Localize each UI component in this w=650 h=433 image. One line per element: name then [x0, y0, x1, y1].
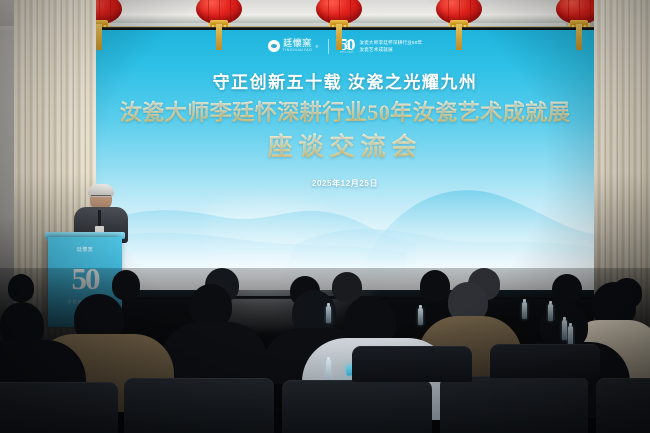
audience-head-back-1 [8, 274, 34, 302]
water-bottle-1 [326, 306, 331, 323]
anniversary-lockup: 50 1975-2025 汝瓷大师李廷怀深耕行业50年 汝瓷艺术成就展 [339, 37, 422, 55]
seat-back-5 [596, 378, 650, 433]
logo-divider [328, 39, 329, 54]
seat-back-2 [124, 378, 274, 433]
podium-brand-label: 廷懷窯 [48, 246, 122, 253]
audience-area [0, 268, 650, 433]
teacup-circle-icon [268, 40, 280, 52]
brand-name-en: TINGHUAIYAO [283, 49, 313, 52]
brand-text: 廷懷窯 TINGHUAIYAO [283, 39, 313, 52]
screenshot-root: 廷懷窯 TINGHUAIYAO ® 50 1975-2025 汝瓷大师李廷怀深耕… [0, 0, 650, 433]
anniversary-caption: 汝瓷大师李廷怀深耕行业50年 汝瓷艺术成就展 [359, 40, 422, 52]
water-bottle-4 [548, 304, 553, 321]
seat-back-7 [490, 344, 600, 378]
red-lantern-4 [436, 0, 482, 38]
banner-date: 2025年12月25日 [96, 178, 594, 189]
anniversary-years: 1975-2025 [339, 52, 354, 54]
audience-head-back-8 [552, 274, 582, 304]
water-bottle-5 [562, 320, 567, 340]
banner-event-type: 座谈交流会 [96, 127, 594, 163]
brand-name-cn: 廷懷窯 [283, 39, 312, 48]
seat-back-3 [282, 380, 432, 433]
red-lantern-3 [316, 0, 362, 38]
anniversary-caption-line1: 汝瓷大师李廷怀深耕行业50年 [359, 40, 422, 46]
banner-main-title: 汝瓷大师李廷怀深耕行业50年汝瓷艺术成就展 [96, 95, 594, 127]
red-lantern-2 [196, 0, 242, 38]
seat-back-1 [0, 382, 118, 433]
seat-back-4 [440, 376, 588, 433]
audience-head-back-6 [420, 270, 450, 302]
anniversary-caption-line2: 汝瓷艺术成就展 [359, 47, 422, 53]
audience-head-back-2 [112, 270, 140, 300]
trademark-mark: ® [315, 44, 318, 49]
banner-subtitle: 守正创新五十载 汝瓷之光耀九州 [96, 68, 594, 93]
water-bottle-3 [522, 302, 527, 319]
seat-back-6 [352, 346, 472, 382]
audience-head-back-5 [332, 272, 362, 302]
glasses-icon [91, 195, 111, 201]
water-bottle-2 [418, 308, 423, 325]
lanyard [98, 210, 101, 227]
audience-shoulders-mid-1 [160, 322, 268, 380]
water-bottle-7 [326, 360, 331, 380]
brand-lockup: 廷懷窯 TINGHUAIYAO ® [268, 39, 319, 52]
